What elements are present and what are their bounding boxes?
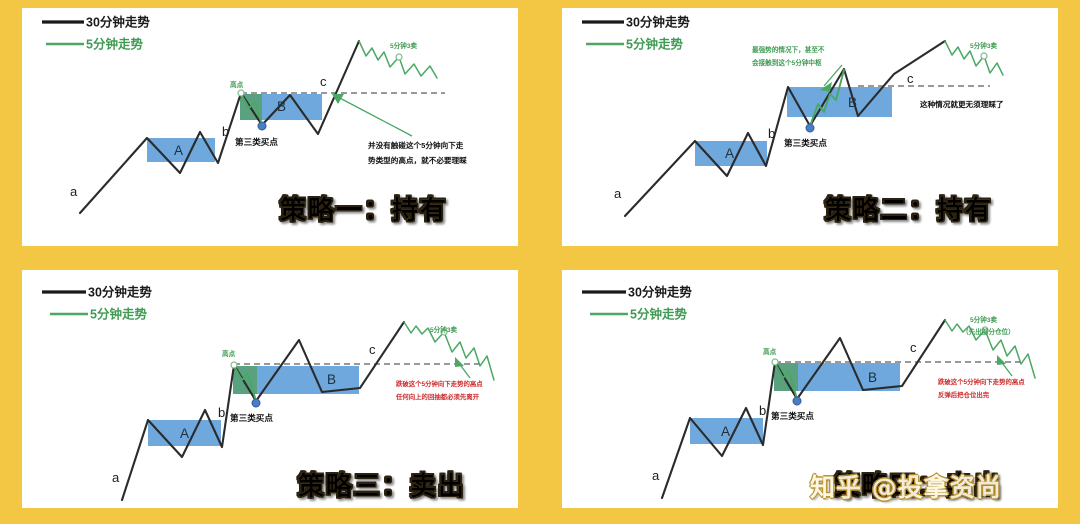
- legend-5-label: 5分钟走势: [630, 307, 687, 322]
- zone-b-label: B: [277, 99, 286, 114]
- legend-30-label: 30分钟走势: [628, 285, 692, 300]
- legend-panel-3: 30分钟走势 5分钟走势: [42, 285, 152, 322]
- wave-a-label: a: [112, 470, 120, 485]
- third-buy-point-dot: [793, 397, 801, 405]
- note-black-line-1: 这种情况就更无须理睬了: [920, 99, 1004, 109]
- wave-b-label: b: [768, 126, 775, 141]
- note-red-line-1: 跌破这个5分钟向下走势的高点: [938, 377, 1025, 386]
- legend-panel-2: 30分钟走势 5分钟走势: [582, 15, 690, 52]
- note-green-line-2: 会接触到这个5分钟中枢: [752, 58, 822, 67]
- no-touch-arrow-icon: [332, 94, 412, 136]
- zone-b-label: B: [868, 370, 877, 385]
- zone-a-label: A: [725, 146, 734, 161]
- wave-c-label: c: [910, 340, 917, 355]
- swing-marker: [981, 53, 987, 59]
- legend-5-label: 5分钟走势: [626, 37, 683, 52]
- zone-b-label: B: [327, 372, 336, 387]
- legend-30-label: 30分钟走势: [626, 15, 690, 30]
- five-min-sell3-label: 5分钟3卖: [970, 41, 998, 50]
- wave-c-label: c: [320, 74, 327, 89]
- break-high-arrow-icon: [997, 355, 1012, 376]
- legend-5-label: 5分钟走势: [90, 307, 147, 322]
- zone-b-label: B: [848, 95, 857, 110]
- wave-a-label: a: [70, 184, 78, 199]
- wave-c-label: c: [369, 342, 376, 357]
- wave-30min-path: [122, 322, 404, 500]
- third-buy-point-label: 第三类买点: [235, 136, 278, 147]
- swing-marker: [238, 90, 244, 96]
- legend-5-label: 5分钟走势: [86, 37, 143, 52]
- third-buy-point-dot: [806, 124, 814, 132]
- zone-a-label: A: [174, 143, 183, 158]
- five-min-sell3-label: 5分钟3卖: [430, 325, 458, 334]
- five-min-sell3-label: 5分钟3卖: [390, 41, 418, 50]
- note-red-line-2: 任何向上的回抽都必须先离开: [395, 392, 480, 401]
- wave-b-label: b: [218, 405, 225, 420]
- swing-marker: [396, 54, 402, 60]
- legend-30-label: 30分钟走势: [86, 15, 150, 30]
- legend-30-label: 30分钟走势: [88, 285, 152, 300]
- wave-b-label: b: [759, 403, 766, 418]
- swing-marker: [772, 359, 778, 365]
- wave-30min-path: [662, 320, 945, 498]
- zone-a-label: A: [180, 426, 189, 441]
- high-point-label: 高点: [230, 80, 244, 89]
- swing-marker: [231, 362, 237, 368]
- wave-a-label: a: [652, 468, 660, 483]
- note-line-1: 并没有触碰这个5分钟向下走: [368, 140, 464, 150]
- note-green-line-1: 最强势的情况下，甚至不: [752, 45, 825, 54]
- third-buy-point-label: 第三类买点: [230, 412, 273, 423]
- note-red-line-2: 反弹后把仓位出完: [938, 390, 990, 399]
- third-buy-point-label: 第三类买点: [771, 410, 814, 421]
- wave-a-label: a: [614, 186, 622, 201]
- partial-exit-line-2: （先出部分仓位）: [962, 327, 1015, 336]
- strategy-panel-2: 30分钟走势 5分钟走势 a b c A B 第三类买点 5分钟3卖: [562, 8, 1058, 246]
- partial-exit-line-1: 5分钟3卖: [970, 315, 998, 324]
- strategy-chart-grid: 30分钟走势 5分钟走势 a b c: [0, 0, 1080, 524]
- wave-30min-path: [80, 41, 359, 213]
- third-buy-point-label: 第三类买点: [784, 137, 827, 148]
- legend-panel-4: 30分钟走势 5分钟走势: [582, 285, 692, 322]
- third-buy-point-dot: [252, 399, 260, 407]
- wave-b-label: b: [222, 124, 229, 139]
- note-line-2: 势类型的高点，就不必要理睬: [368, 155, 467, 165]
- break-high-arrow-icon: [455, 357, 470, 378]
- strategy-panel-4: 30分钟走势 5分钟走势 a b c A B 高点 第三类买点 5分钟3卖 （先…: [562, 270, 1058, 508]
- high-point-label: 高点: [763, 347, 777, 356]
- third-buy-point-dot: [258, 122, 266, 130]
- strategy-panel-3: 30分钟走势 5分钟走势 a b c A B 高点 第三类买点 5分钟3卖: [22, 270, 518, 508]
- legend-panel-1: 30分钟走势 5分钟走势: [42, 15, 150, 52]
- wave-c-label: c: [907, 71, 914, 86]
- wave-30min-path: [625, 41, 945, 216]
- high-point-label: 高点: [222, 349, 236, 358]
- note-red-line-1: 跌破这个5分钟向下走势的高点: [396, 379, 483, 388]
- strategy-panel-1: 30分钟走势 5分钟走势 a b c: [22, 8, 518, 246]
- zone-a-label: A: [721, 424, 730, 439]
